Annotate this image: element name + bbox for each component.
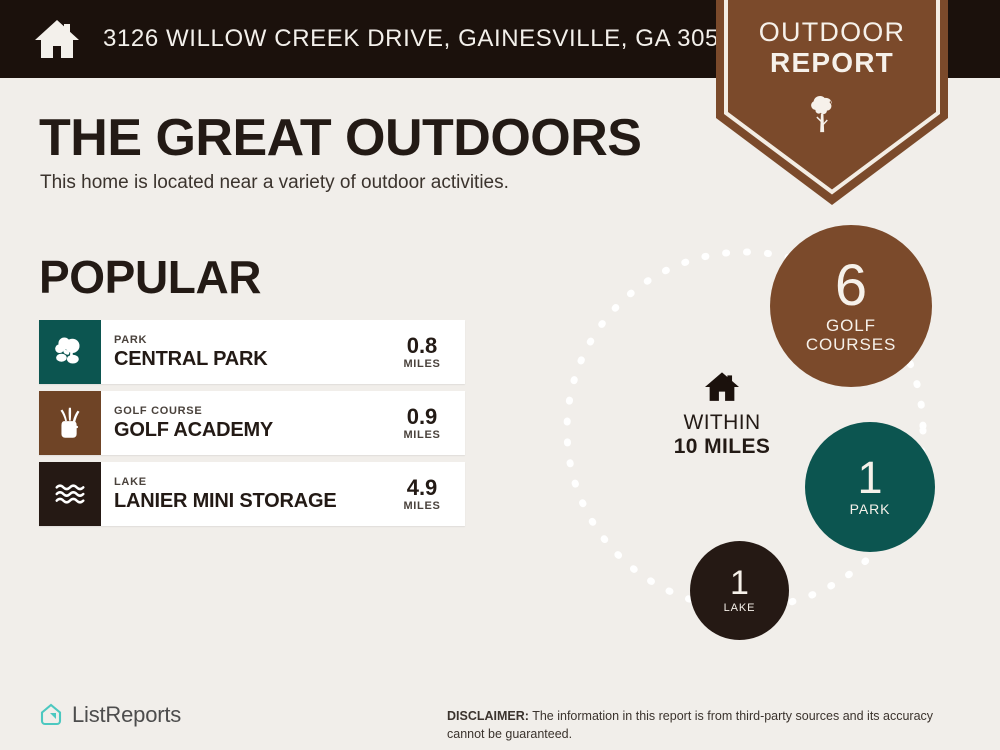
- list-item-distance: 0.9: [407, 405, 438, 429]
- list-item-distance: 4.9: [407, 476, 438, 500]
- list-item[interactable]: LAKE LANIER MINI STORAGE 4.9 MILES: [39, 462, 465, 526]
- disclaimer: DISCLAIMER: The information in this repo…: [447, 707, 967, 743]
- bubble-park[interactable]: 1 PARK: [805, 422, 935, 552]
- popular-list: PARK CENTRAL PARK 0.8 MILES GOLF COURSE …: [39, 320, 465, 533]
- list-item-unit: MILES: [403, 358, 440, 370]
- water-waves-icon: [39, 462, 101, 526]
- center-line-2: 10 MILES: [652, 435, 792, 459]
- bubble-golf-courses[interactable]: 6 GOLF COURSES: [770, 225, 932, 387]
- diagram-center-label: WITHIN 10 MILES: [652, 370, 792, 458]
- disclaimer-label: DISCLAIMER:: [447, 709, 529, 723]
- bubble-label-line-1: GOLF: [806, 316, 896, 335]
- list-item[interactable]: GOLF COURSE GOLF ACADEMY 0.9 MILES: [39, 391, 465, 455]
- bubble-count: 1: [857, 456, 882, 500]
- page-title: THE GREAT OUTDOORS: [39, 108, 641, 168]
- center-line-1: WITHIN: [652, 411, 792, 435]
- golf-bag-icon: [39, 391, 101, 455]
- list-item-name: CENTRAL PARK: [114, 348, 387, 371]
- within-10-miles-diagram: 6 GOLF COURSES 1 PARK 1 LAKE WITHIN 10 M…: [560, 225, 980, 645]
- bubble-label-line-2: COURSES: [806, 335, 896, 354]
- bubble-label: LAKE: [724, 602, 756, 614]
- outdoor-report-badge: OUTDOOR REPORT: [716, 0, 948, 205]
- home-icon: [652, 370, 792, 404]
- listreports-logo[interactable]: ListReports: [38, 702, 181, 728]
- park-trees-icon: [39, 320, 101, 384]
- list-item-name: GOLF ACADEMY: [114, 419, 387, 442]
- bubble-label: GOLF COURSES: [806, 316, 896, 354]
- listreports-house-icon: [38, 702, 64, 728]
- bubble-label: PARK: [850, 502, 891, 518]
- section-title-popular: POPULAR: [39, 250, 261, 304]
- list-item-name: LANIER MINI STORAGE: [114, 490, 387, 513]
- list-item-category: GOLF COURSE: [114, 404, 387, 418]
- list-item-distance: 0.8: [407, 334, 438, 358]
- list-item-unit: MILES: [403, 429, 440, 441]
- list-item-category: PARK: [114, 333, 387, 347]
- listreports-logo-text: ListReports: [72, 702, 181, 728]
- bubble-count: 6: [835, 258, 867, 315]
- bubble-lake[interactable]: 1 LAKE: [690, 541, 789, 640]
- property-address: 3126 WILLOW CREEK DRIVE, GAINESVILLE, GA…: [103, 25, 747, 53]
- list-item-category: LAKE: [114, 475, 387, 489]
- bubble-count: 1: [730, 567, 749, 600]
- list-item-unit: MILES: [403, 500, 440, 512]
- list-item[interactable]: PARK CENTRAL PARK 0.8 MILES: [39, 320, 465, 384]
- page-subtitle: This home is located near a variety of o…: [40, 172, 509, 194]
- home-icon: [33, 15, 81, 63]
